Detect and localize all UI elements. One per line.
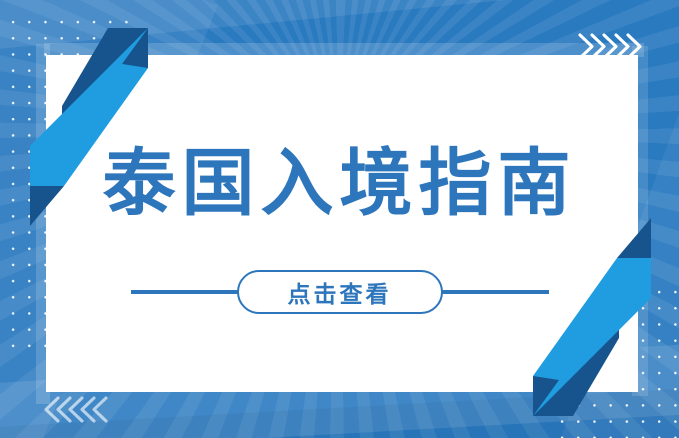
page-title: 泰国入境指南 — [0, 147, 679, 220]
bottom-right-ribbon-icon — [455, 218, 655, 418]
chevron-left-icon — [38, 393, 110, 427]
cta-rule-left — [131, 290, 239, 294]
cta-row: 点击查看 — [0, 268, 679, 316]
chevron-right-icon — [576, 30, 648, 64]
view-button[interactable]: 点击查看 — [237, 270, 443, 314]
poster-canvas: 泰国入境指南 点击查看 — [0, 0, 679, 438]
cta-rule-right — [441, 290, 549, 294]
